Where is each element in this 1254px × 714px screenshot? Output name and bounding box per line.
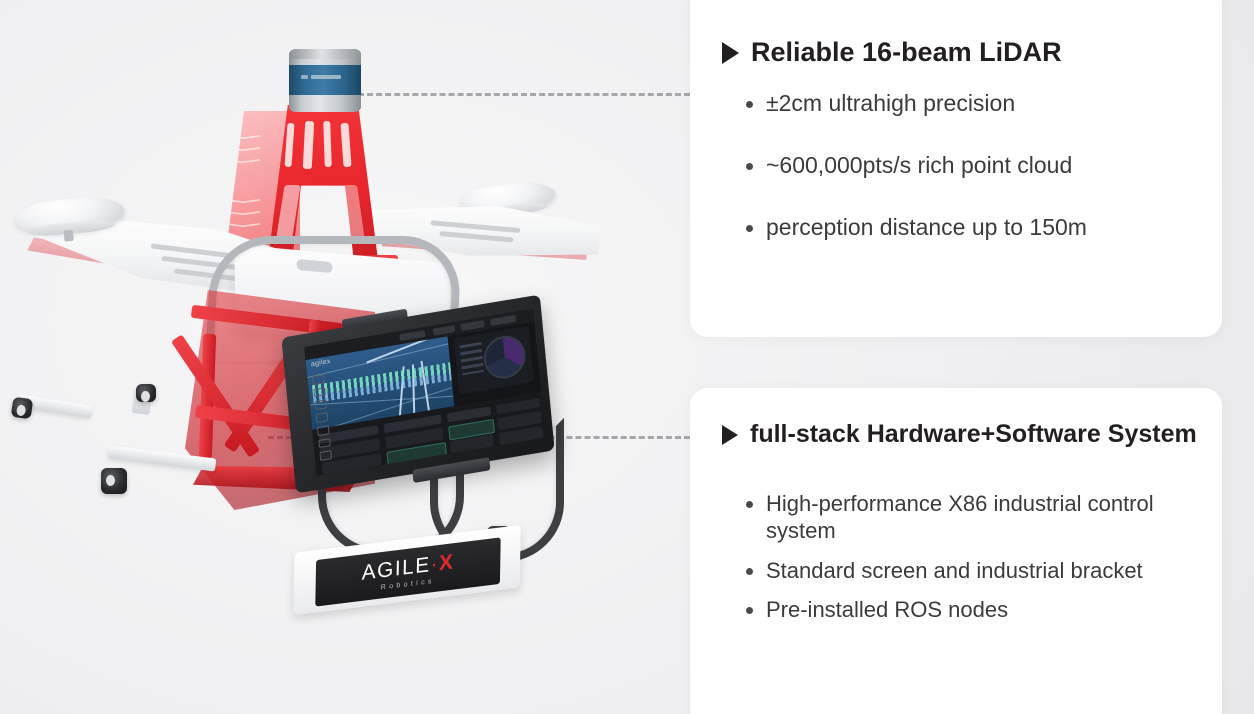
- full-stack-card-heading: full-stack Hardware+Software System: [722, 420, 1200, 448]
- list-item: perception distance up to 150m: [744, 213, 1204, 241]
- sidebar-icon[interactable]: [318, 438, 331, 449]
- lidar-card-heading: Reliable 16-beam LiDAR: [722, 37, 1192, 67]
- lidar-card: Reliable 16-beam LiDAR ±2cm ultrahigh pr…: [690, 0, 1222, 337]
- list-item: Pre-installed ROS nodes: [744, 596, 1194, 623]
- sidebar-icon[interactable]: [312, 374, 325, 385]
- arm-vent: [439, 231, 513, 242]
- chevron-graphic: [226, 223, 260, 227]
- chevron-graphic: [226, 147, 260, 151]
- sidebar-icon[interactable]: [315, 400, 328, 411]
- ui-gauge-panel[interactable]: [454, 326, 534, 394]
- full-stack-card: full-stack Hardware+Software System High…: [690, 388, 1222, 714]
- triangle-bullet-icon: [722, 42, 739, 64]
- brand-wordmark: AGILE·X: [362, 551, 455, 584]
- chevron-graphic: [226, 135, 260, 139]
- product-image: agilex AGILE·X Robotics: [0, 0, 690, 714]
- full-stack-card-bullets: High-performance X86 industrial control …: [744, 490, 1194, 635]
- list-item: High-performance X86 industrial control …: [744, 490, 1194, 545]
- full-stack-card-title: full-stack Hardware+Software System: [750, 420, 1197, 448]
- lidar-card-title: Reliable 16-beam LiDAR: [751, 37, 1062, 67]
- list-item: ~600,000pts/s rich point cloud: [744, 151, 1204, 179]
- sidebar-icon[interactable]: [316, 412, 329, 423]
- chevron-graphic: [226, 159, 260, 163]
- lidar-sensor: [289, 49, 361, 112]
- brand-wordmark-x: X: [439, 550, 455, 575]
- caster-wheel: [101, 468, 127, 494]
- lidar-top-cap: [289, 49, 361, 59]
- lidar-marking: [301, 75, 308, 79]
- antenna-stem: [64, 230, 74, 242]
- chevron-graphic: [226, 211, 260, 215]
- logo-plate: AGILE·X Robotics: [315, 537, 500, 606]
- triangle-bullet-icon: [722, 425, 738, 445]
- sidebar-icon[interactable]: [317, 425, 330, 436]
- sidebar-icon[interactable]: [313, 387, 326, 398]
- list-item: Standard screen and industrial bracket: [744, 557, 1194, 584]
- lidar-card-bullets: ±2cm ultrahigh precision ~600,000pts/s r…: [744, 89, 1204, 275]
- list-item: ±2cm ultrahigh precision: [744, 89, 1204, 117]
- caster-wheel: [136, 384, 156, 402]
- lidar-marking: [311, 75, 341, 79]
- caster-wheel: [11, 397, 34, 420]
- lidar-optical-band: [289, 65, 361, 95]
- dashed-leader-line-1: [358, 93, 690, 96]
- chevron-graphic: [226, 199, 260, 203]
- screenshot-root: agilex AGILE·X Robotics: [0, 0, 1254, 714]
